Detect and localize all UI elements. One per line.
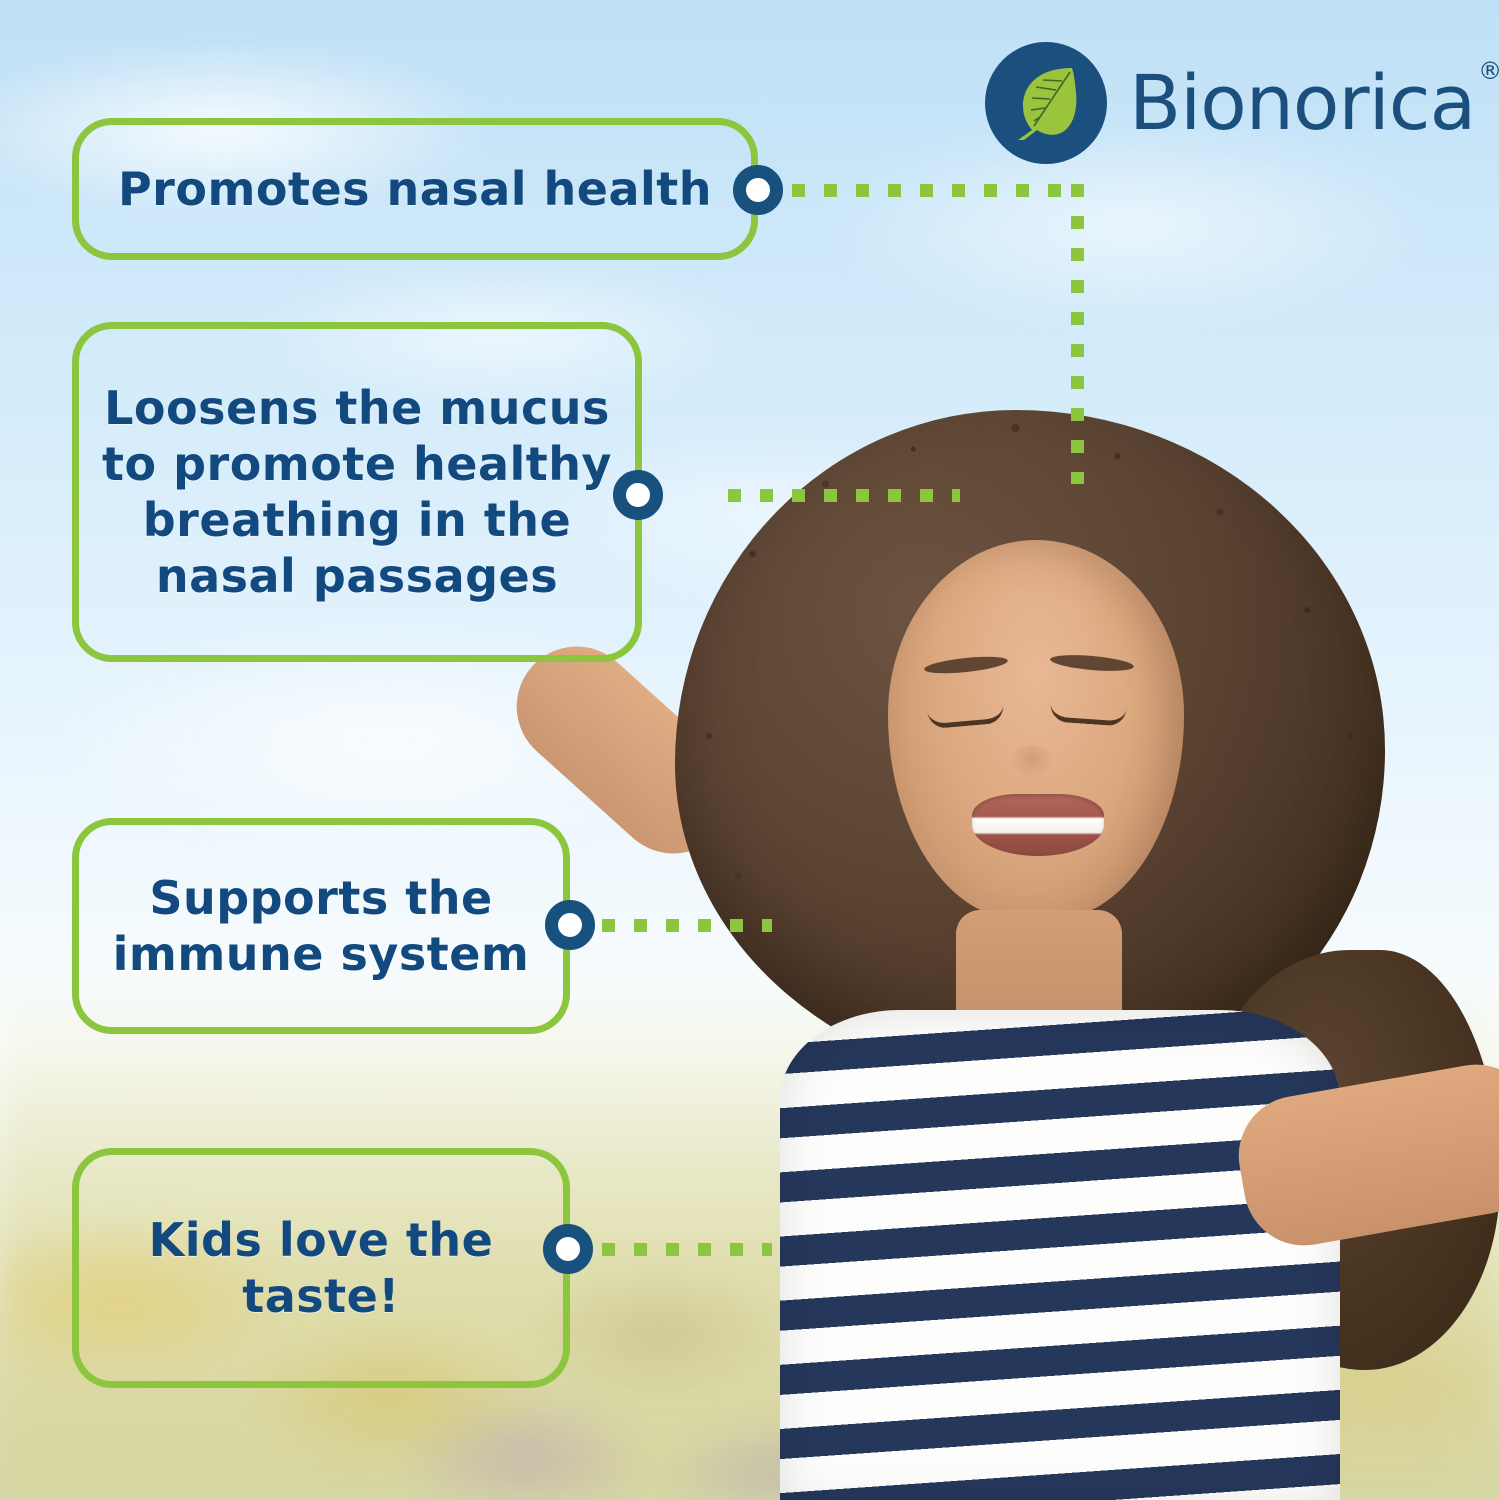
benefit-callout-2-text: Loosens the mucus to promote healthy bre… bbox=[84, 380, 630, 604]
bionorica-logo: Bionorica ® bbox=[985, 42, 1475, 164]
connector-node-3 bbox=[545, 900, 595, 950]
striped-shirt bbox=[780, 1010, 1340, 1500]
connector-line-4-horizontal bbox=[602, 1243, 772, 1256]
child-portrait bbox=[640, 390, 1499, 1500]
child-nose bbox=[1010, 745, 1054, 779]
connector-line-1-vertical bbox=[1071, 184, 1084, 484]
product-benefits-infographic: Promotes nasal health Loosens the mucus … bbox=[0, 0, 1499, 1500]
registered-trademark-symbol: ® bbox=[1478, 59, 1499, 83]
child-smile bbox=[972, 794, 1104, 856]
benefit-callout-1-text: Promotes nasal health bbox=[100, 161, 730, 217]
leaf-icon bbox=[985, 42, 1107, 164]
brand-name: Bionorica bbox=[1129, 58, 1475, 147]
benefit-callout-4: Kids love the taste! bbox=[72, 1148, 570, 1388]
connector-line-2-horizontal bbox=[728, 489, 960, 502]
benefit-callout-1: Promotes nasal health bbox=[72, 118, 758, 260]
connector-line-1-horizontal bbox=[792, 184, 1084, 197]
benefit-callout-4-text: Kids love the taste! bbox=[131, 1212, 512, 1324]
child-face bbox=[888, 540, 1184, 920]
connector-node-2 bbox=[613, 470, 663, 520]
connector-line-3-horizontal bbox=[602, 919, 772, 932]
benefit-callout-3: Supports the immune system bbox=[72, 818, 570, 1034]
connector-node-1 bbox=[733, 165, 783, 215]
brand-wordmark: Bionorica ® bbox=[1129, 65, 1475, 141]
benefit-callout-2: Loosens the mucus to promote healthy bre… bbox=[72, 322, 642, 662]
connector-node-4 bbox=[543, 1224, 593, 1274]
benefit-callout-3-text: Supports the immune system bbox=[95, 870, 548, 982]
